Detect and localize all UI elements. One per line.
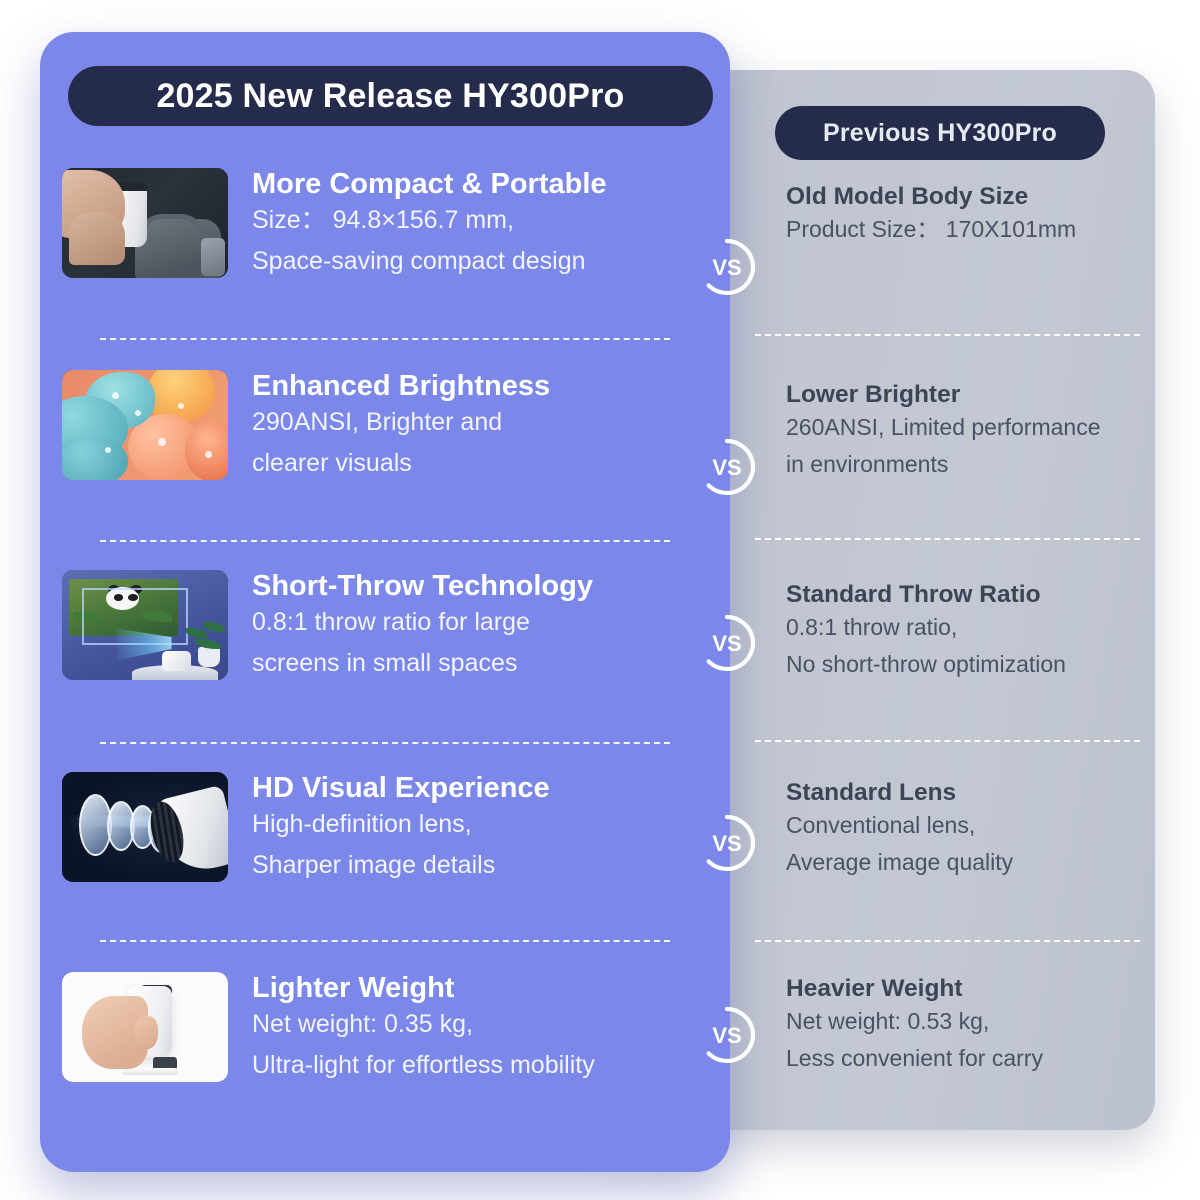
new-feature-row: Enhanced Brightness 290ANSI, Brighter an…: [62, 370, 687, 483]
new-release-header-pill: 2025 New Release HY300Pro: [68, 66, 713, 126]
new-feature-row: HD Visual Experience High-definition len…: [62, 772, 687, 885]
new-feature-desc-line2: clearer visuals: [252, 443, 550, 484]
projector-panda-screen-photo: [62, 570, 228, 680]
vs-badge: VS: [697, 437, 757, 497]
section-divider: [100, 940, 670, 942]
old-feature-desc-line2: Average image quality: [786, 844, 1156, 881]
vs-badge: VS: [697, 613, 757, 673]
old-feature-desc-line1: Net weight: 0.53 kg,: [786, 1003, 1156, 1040]
new-feature-desc-line2: Ultra-light for effortless mobility: [252, 1045, 595, 1086]
old-feature-desc-line1: 260ANSI, Limited performance: [786, 409, 1156, 446]
vs-badge-label: VS: [712, 831, 741, 856]
new-feature-desc-line1: 290ANSI, Brighter and: [252, 402, 550, 443]
new-feature-row: Short-Throw Technology 0.8:1 throw ratio…: [62, 570, 687, 683]
glossy-flowers-photo: [62, 370, 228, 480]
old-feature-desc-line2: No short-throw optimization: [786, 646, 1156, 683]
old-feature-desc-line2: Less convenient for carry: [786, 1040, 1156, 1077]
previous-model-header-pill: Previous HY300Pro: [775, 106, 1105, 160]
old-feature-title: Old Model Body Size: [786, 182, 1156, 211]
old-feature-title: Heavier Weight: [786, 974, 1156, 1003]
new-feature-desc-line1: High-definition lens,: [252, 804, 550, 845]
new-feature-desc-line2: Sharper image details: [252, 845, 550, 886]
section-divider: [755, 940, 1140, 942]
section-divider: [100, 540, 670, 542]
old-feature-row: Old Model Body Size Product Size： 170X10…: [786, 182, 1156, 248]
new-feature-title: More Compact & Portable: [252, 168, 607, 200]
old-feature-desc-line1: 0.8:1 throw ratio,: [786, 609, 1156, 646]
new-feature-desc-line1: 0.8:1 throw ratio for large: [252, 602, 593, 643]
new-feature-desc-line2: screens in small spaces: [252, 643, 593, 684]
new-release-header-label: 2025 New Release HY300Pro: [156, 77, 624, 116]
new-feature-title: Lighter Weight: [252, 972, 595, 1004]
new-feature-row: Lighter Weight Net weight: 0.35 kg, Ultr…: [62, 972, 687, 1085]
old-feature-desc-line1: Product Size： 170X101mm: [786, 211, 1156, 248]
new-feature-title: HD Visual Experience: [252, 772, 550, 804]
section-divider: [755, 334, 1140, 336]
old-feature-title: Standard Lens: [786, 778, 1156, 807]
vs-badge-label: VS: [712, 455, 741, 480]
new-feature-desc-line1: Size： 94.8×156.7 mm,: [252, 200, 607, 241]
section-divider: [755, 740, 1140, 742]
vs-badge: VS: [697, 813, 757, 873]
section-divider: [100, 742, 670, 744]
new-feature-desc-line1: Net weight: 0.35 kg,: [252, 1004, 595, 1045]
comparison-infographic: 2025 New Release HY300Pro Previous HY300…: [0, 0, 1200, 1200]
section-divider: [755, 538, 1140, 540]
previous-model-header-label: Previous HY300Pro: [823, 119, 1057, 148]
new-feature-desc-line2: Space-saving compact design: [252, 241, 607, 282]
new-feature-row: More Compact & Portable Size： 94.8×156.7…: [62, 168, 687, 281]
old-feature-desc-line1: Conventional lens,: [786, 807, 1156, 844]
old-feature-row: Lower Brighter 260ANSI, Limited performa…: [786, 380, 1156, 483]
vs-badge-label: VS: [712, 1023, 741, 1048]
old-feature-row: Standard Throw Ratio 0.8:1 throw ratio, …: [786, 580, 1156, 683]
vs-badge-label: VS: [712, 255, 741, 280]
vs-badge-label: VS: [712, 631, 741, 656]
old-feature-row: Standard Lens Conventional lens, Average…: [786, 778, 1156, 881]
old-feature-title: Standard Throw Ratio: [786, 580, 1156, 609]
old-feature-desc-line2: in environments: [786, 446, 1156, 483]
vs-badge: VS: [697, 1005, 757, 1065]
section-divider: [100, 338, 670, 340]
vs-badge: VS: [697, 237, 757, 297]
new-feature-title: Short-Throw Technology: [252, 570, 593, 602]
exploded-lens-photo: [62, 772, 228, 882]
hand-holding-projector-photo: [62, 972, 228, 1082]
old-feature-title: Lower Brighter: [786, 380, 1156, 409]
projector-in-backpack-photo: [62, 168, 228, 278]
new-feature-title: Enhanced Brightness: [252, 370, 550, 402]
old-feature-row: Heavier Weight Net weight: 0.53 kg, Less…: [786, 974, 1156, 1077]
